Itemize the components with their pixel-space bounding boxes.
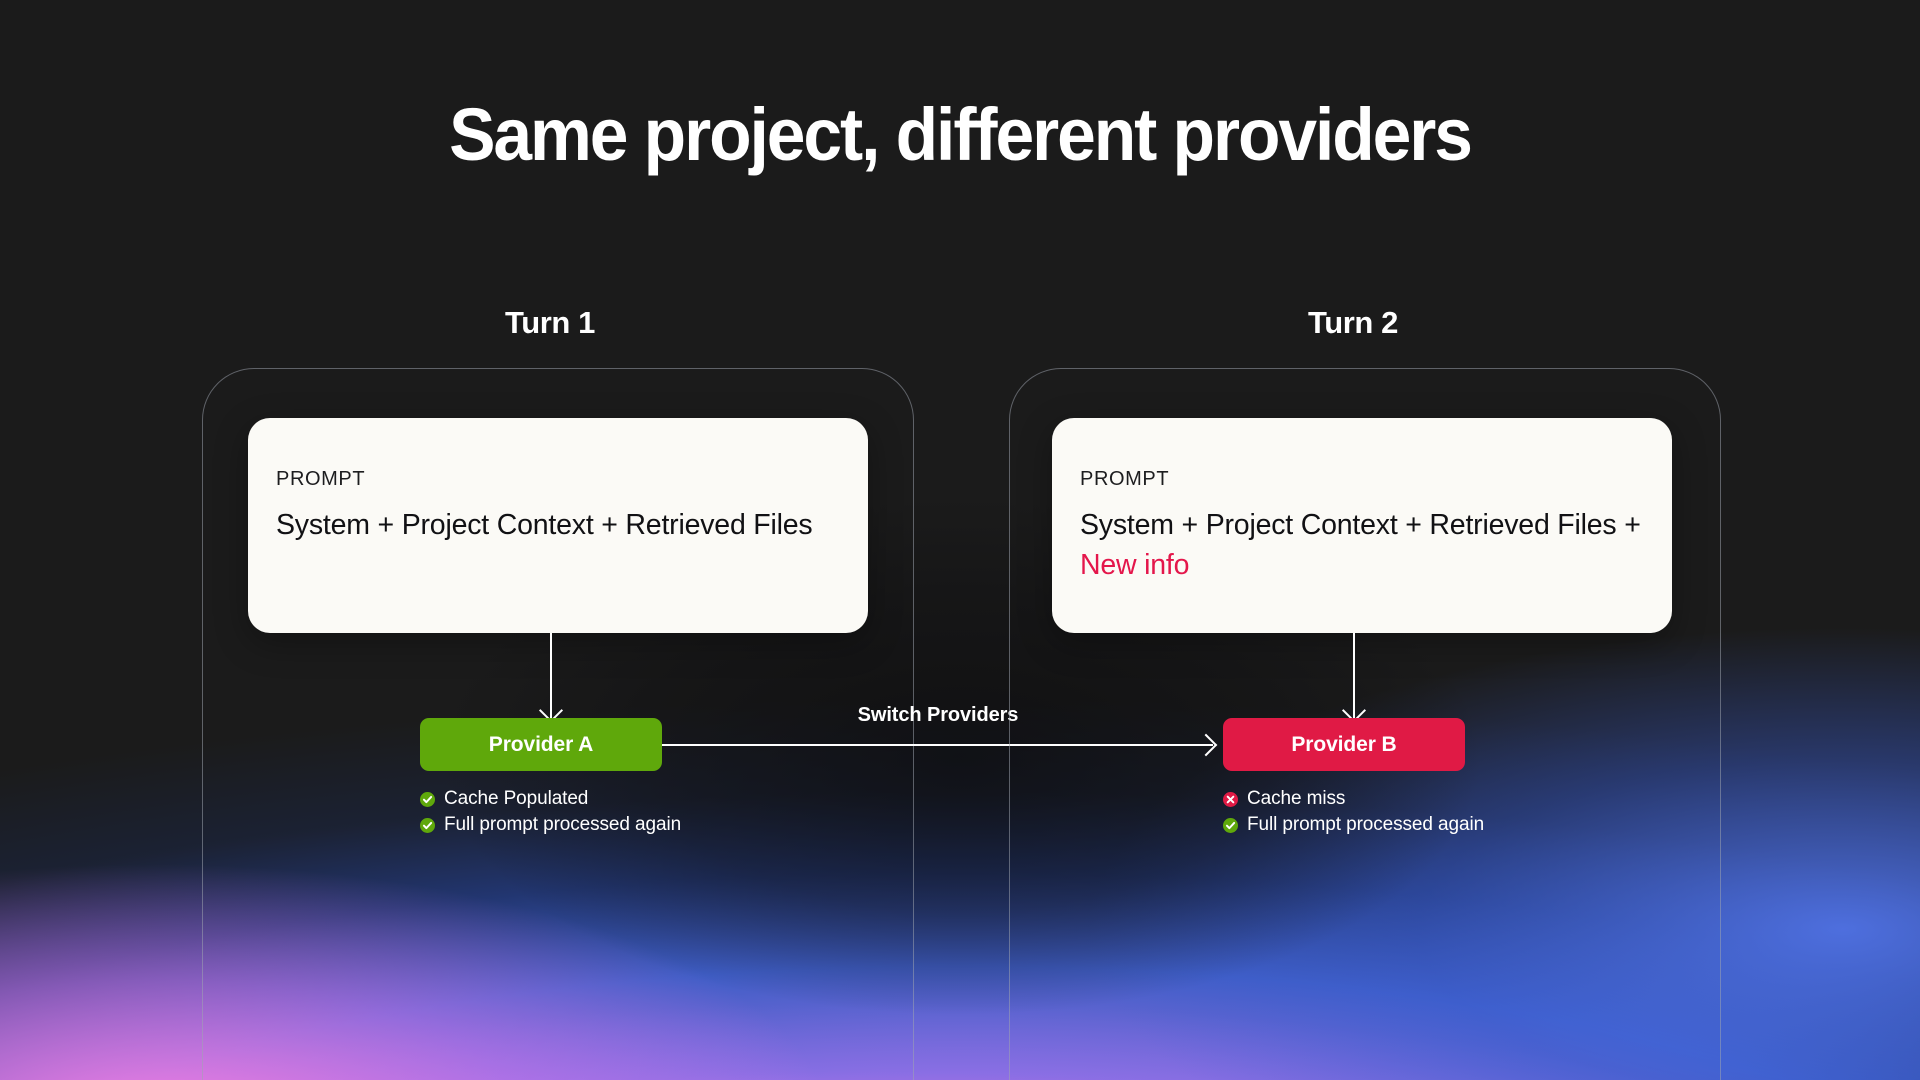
slide-canvas: Same project, different providers Turn 1… [0,0,1920,1080]
check-circle-icon [420,818,435,833]
provider-b-label: Provider B [1291,733,1396,757]
status-list-turn-1: Cache Populated Full prompt processed ag… [420,786,681,838]
switch-providers-label: Switch Providers [858,704,1019,727]
status-list-turn-2: Cache miss Full prompt processed again [1223,786,1484,838]
page-title: Same project, different providers [58,96,1863,174]
provider-b-button[interactable]: Provider B [1223,718,1465,771]
status-label: Full prompt processed again [1247,814,1484,836]
check-circle-icon [420,792,435,807]
status-label: Cache miss [1247,788,1345,810]
arrow-prompt-to-provider-a [550,633,552,718]
prompt-body-highlight-turn-2: New info [1080,549,1189,581]
provider-a-label: Provider A [489,733,593,757]
prompt-card-turn-2: PROMPT System + Project Context + Retrie… [1052,418,1672,633]
status-item: Cache Populated [420,786,681,812]
prompt-kicker-turn-1: PROMPT [276,468,365,491]
status-label: Cache Populated [444,788,588,810]
provider-a-button[interactable]: Provider A [420,718,662,771]
prompt-body-plain-turn-1: System + Project Context + Retrieved Fil… [276,509,812,541]
status-item: Full prompt processed again [1223,812,1484,838]
status-item: Cache miss [1223,786,1484,812]
prompt-body-turn-1: System + Project Context + Retrieved Fil… [276,506,842,546]
status-item: Full prompt processed again [420,812,681,838]
status-label: Full prompt processed again [444,814,681,836]
prompt-body-plain-turn-2: System + Project Context + Retrieved Fil… [1080,509,1641,541]
check-circle-icon [1223,818,1238,833]
column-heading-turn-2: Turn 2 [1308,305,1398,341]
x-circle-icon [1223,792,1238,807]
prompt-kicker-turn-2: PROMPT [1080,468,1169,491]
prompt-card-turn-1: PROMPT System + Project Context + Retrie… [248,418,868,633]
column-heading-turn-1: Turn 1 [505,305,595,341]
prompt-body-turn-2: System + Project Context + Retrieved Fil… [1080,506,1646,585]
arrow-prompt-to-provider-b [1353,633,1355,718]
